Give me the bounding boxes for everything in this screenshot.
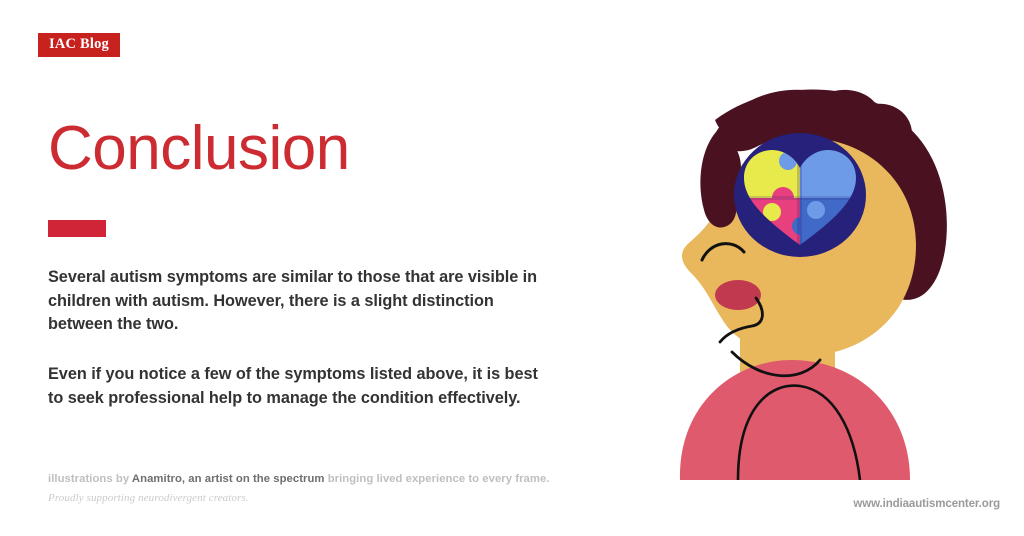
paragraph-2: Even if you notice a few of the symptoms… bbox=[48, 363, 538, 410]
accent-rule bbox=[48, 220, 106, 237]
credit-tagline: Proudly supporting neurodivergent creato… bbox=[48, 492, 648, 504]
iac-blog-badge[interactable]: IAC Blog bbox=[38, 33, 120, 57]
credit-line: illustrations by Anamitro, an artist on … bbox=[48, 472, 648, 487]
puzzle-seam-horizontal bbox=[738, 196, 862, 200]
credit-prefix: illustrations by bbox=[48, 473, 132, 485]
illustration-credit: illustrations by Anamitro, an artist on … bbox=[48, 472, 648, 504]
cheek-blush bbox=[715, 280, 761, 310]
body-copy: Several autism symptoms are similar to t… bbox=[48, 266, 568, 410]
paragraph-1: Several autism symptoms are similar to t… bbox=[48, 266, 538, 337]
slide-canvas: IAC Blog Conclusion Several autism sympt… bbox=[0, 0, 1024, 536]
page-title: Conclusion bbox=[48, 118, 568, 180]
puzzle-knob-mid-right bbox=[807, 201, 825, 219]
credit-suffix: bringing lived experience to every frame… bbox=[325, 473, 550, 485]
website-url[interactable]: www.indiaautismcenter.org bbox=[853, 498, 1000, 510]
shirt-shape bbox=[680, 360, 910, 480]
credit-artist-name: Anamitro, an artist on the spectrum bbox=[132, 473, 325, 485]
left-text-column: Conclusion Several autism symptoms are s… bbox=[48, 118, 568, 410]
person-illustration bbox=[620, 60, 1000, 480]
